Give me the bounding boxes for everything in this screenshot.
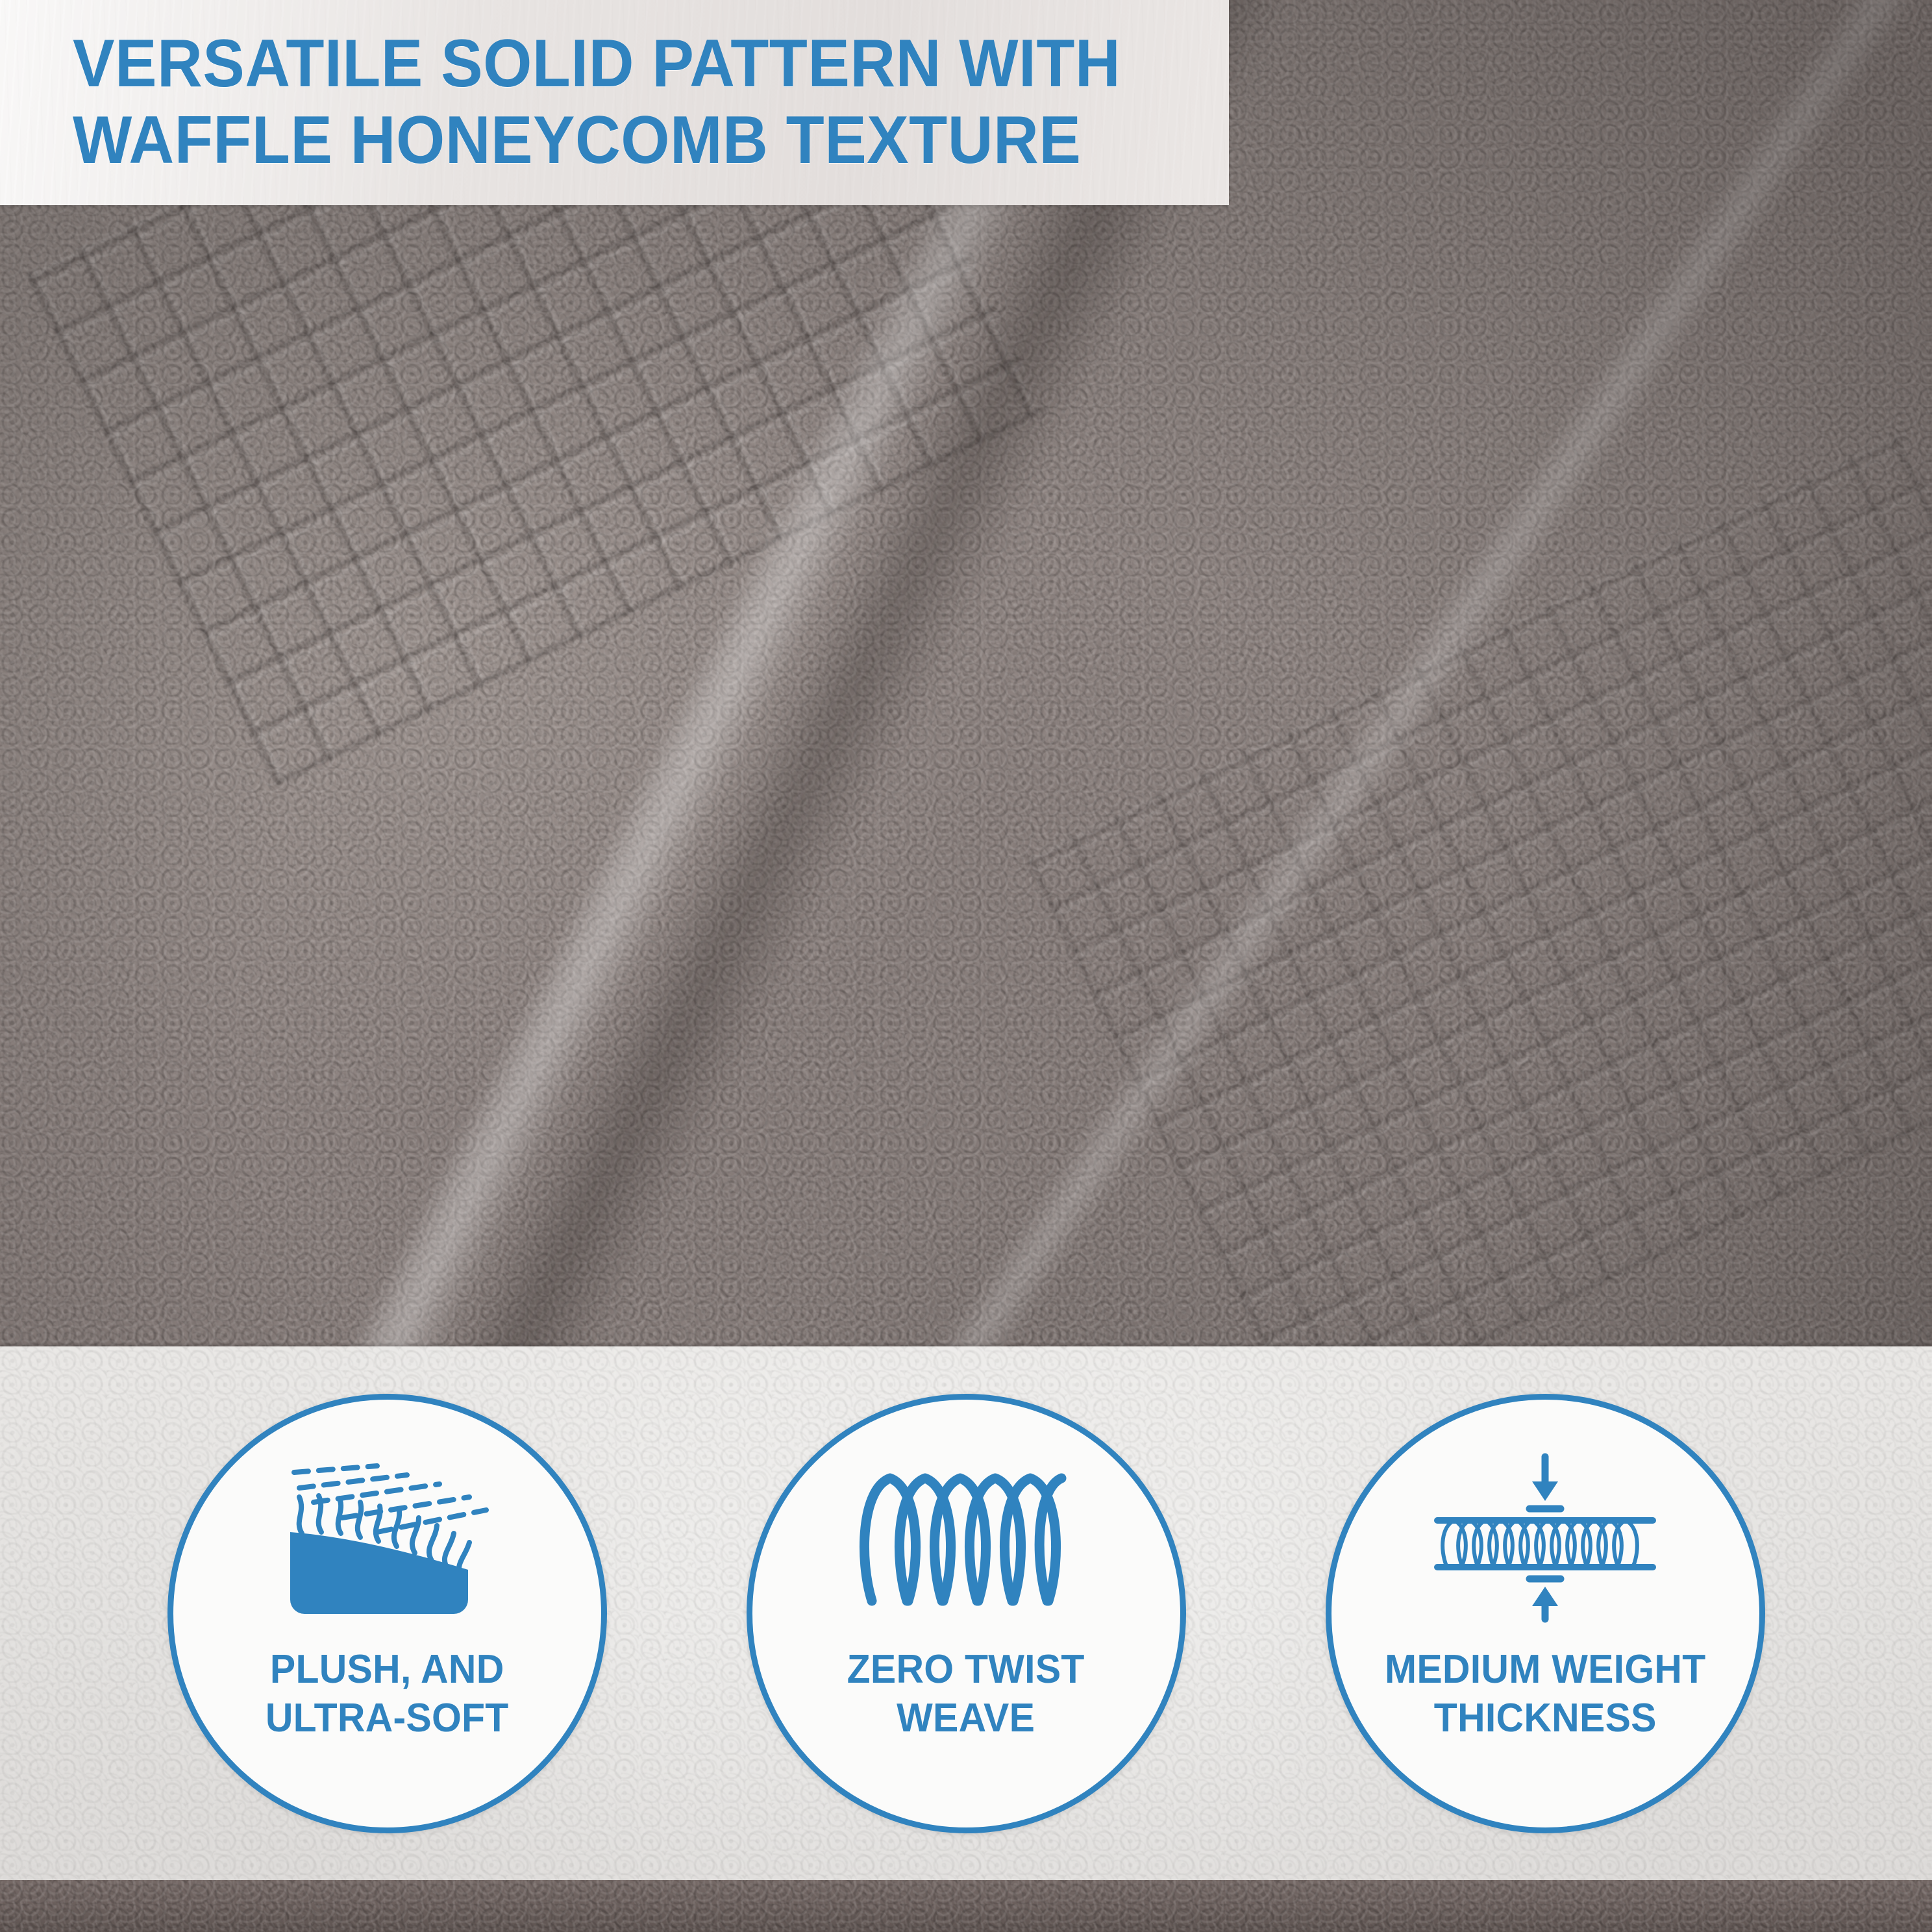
bottom-strip-texture (0, 1880, 1932, 1932)
feature-badge-thickness-label: MEDIUM WEIGHT THICKNESS (1385, 1645, 1706, 1743)
feature-badge-zero-twist[interactable]: ZERO TWIST WEAVE (747, 1394, 1186, 1833)
plush-label-line-2: ULTRA-SOFT (266, 1694, 509, 1743)
zero-twist-label-line-1: ZERO TWIST (847, 1647, 1085, 1692)
feature-badge-plush-label: PLUSH, AND ULTRA-SOFT (266, 1645, 509, 1743)
feature-badge-zero-twist-label: ZERO TWIST WEAVE (847, 1645, 1085, 1743)
thickness-label-line-2: THICKNESS (1385, 1694, 1706, 1743)
thickness-label-line-1: MEDIUM WEIGHT (1385, 1647, 1706, 1692)
feature-panel: PLUSH, AND ULTRA-SOFT (0, 1346, 1932, 1880)
zero-twist-label-line-2: WEAVE (847, 1694, 1085, 1743)
headline-line-1: VERSATILE SOLID PATTERN WITH (73, 26, 1148, 103)
headline-line-2: WAFFLE HONEYCOMB TEXTURE (73, 103, 1148, 179)
thickness-compression-icon (1428, 1450, 1662, 1626)
plush-label-line-1: PLUSH, AND (270, 1647, 504, 1692)
plush-fabric-icon (280, 1450, 494, 1626)
feature-badge-thickness[interactable]: MEDIUM WEIGHT THICKNESS (1326, 1394, 1765, 1833)
feature-badge-row: PLUSH, AND ULTRA-SOFT (0, 1346, 1932, 1880)
infographic-canvas: VERSATILE SOLID PATTERN WITH WAFFLE HONE… (0, 0, 1932, 1932)
feature-badge-plush[interactable]: PLUSH, AND ULTRA-SOFT (167, 1394, 607, 1833)
bottom-towel-strip (0, 1880, 1932, 1932)
yarn-loops-icon (852, 1450, 1080, 1626)
headline-banner: VERSATILE SOLID PATTERN WITH WAFFLE HONE… (0, 0, 1229, 205)
